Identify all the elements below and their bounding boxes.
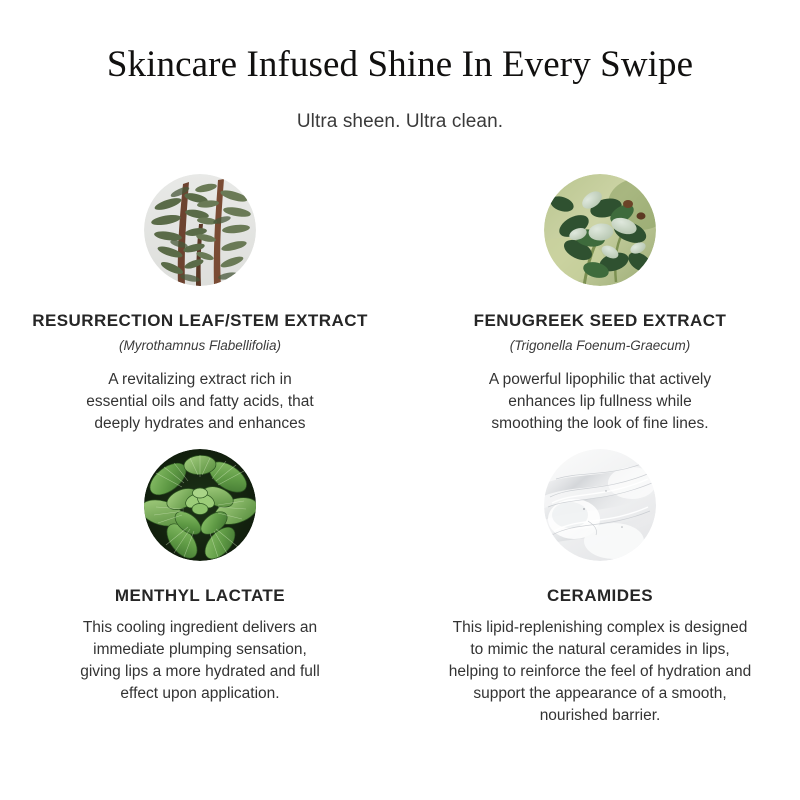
ingredient-description: A revitalizing extract rich in essential… — [86, 353, 313, 435]
page-header: Skincare Infused Shine In Every Swipe Ul… — [0, 0, 800, 133]
ingredient-description: A powerful lipophilic that actively enha… — [489, 353, 711, 435]
fenugreek-leaves-photo — [544, 174, 656, 286]
ingredient-title: MENTHYL LACTATE — [115, 561, 285, 606]
ingredient-title: CERAMIDES — [547, 561, 653, 606]
ingredient-title: FENUGREEK SEED EXTRACT — [474, 286, 727, 331]
ingredient-botanical-name: (Trigonella Foenum-Graecum) — [510, 331, 691, 353]
ceramide-gel-texture-photo — [544, 449, 656, 561]
ingredient-description: This lipid-replenishing complex is desig… — [449, 606, 751, 727]
page-title: Skincare Infused Shine In Every Swipe — [0, 46, 800, 85]
resurrection-plant-photo — [144, 174, 256, 286]
ingredient-card-fenugreek: FENUGREEK SEED EXTRACT (Trigonella Foenu… — [400, 174, 800, 435]
ingredient-card-resurrection: RESURRECTION LEAF/STEM EXTRACT (Myrotham… — [0, 174, 400, 435]
ingredient-title: RESURRECTION LEAF/STEM EXTRACT — [32, 286, 368, 331]
ingredient-card-ceramides: CERAMIDES This lipid-replenishing comple… — [400, 435, 800, 727]
ingredient-card-menthyl-lactate: MENTHYL LACTATE This cooling ingredient … — [0, 435, 400, 727]
ingredient-benefits-page: Skincare Infused Shine In Every Swipe Ul… — [0, 0, 800, 800]
page-subtitle: Ultra sheen. Ultra clean. — [0, 85, 800, 133]
ingredient-grid: RESURRECTION LEAF/STEM EXTRACT (Myrotham… — [0, 174, 800, 727]
ingredient-description: This cooling ingredient delivers an imme… — [80, 606, 320, 705]
mint-leaves-photo — [144, 449, 256, 561]
ingredient-botanical-name: (Myrothamnus Flabellifolia) — [119, 331, 281, 353]
